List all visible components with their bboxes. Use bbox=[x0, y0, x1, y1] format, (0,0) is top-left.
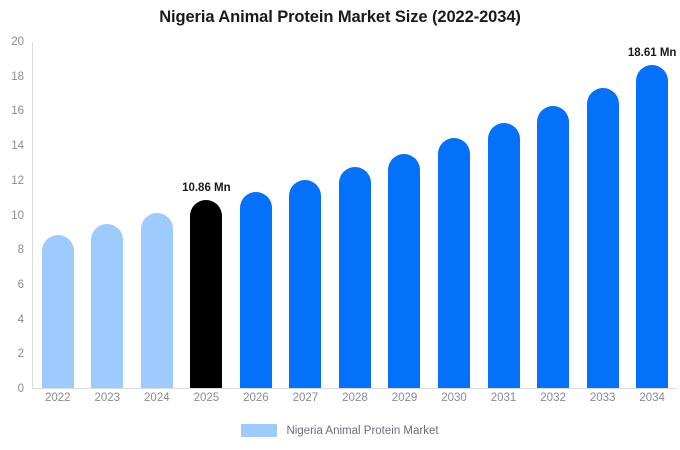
legend-label-nigeria-animal-protein-market: Nigeria Animal Protein Market bbox=[286, 425, 438, 437]
y-axis-tick-label: 16 bbox=[11, 105, 24, 117]
bar-group bbox=[578, 42, 628, 388]
bar-group bbox=[33, 42, 83, 388]
bar-group bbox=[281, 42, 331, 388]
legend-swatch-nigeria-animal-protein-market bbox=[241, 424, 277, 437]
y-axis-tick-label: 2 bbox=[18, 348, 24, 360]
bar-group bbox=[83, 42, 133, 388]
bar-group bbox=[429, 42, 479, 388]
bar-2024[interactable] bbox=[141, 213, 173, 388]
bar-group: 10.86 Mn bbox=[182, 42, 232, 388]
bar-value-label-2034: 18.61 Mn bbox=[628, 47, 677, 59]
x-axis-tick-label-2024: 2024 bbox=[132, 392, 182, 404]
x-axis-tick-label-2027: 2027 bbox=[281, 392, 331, 404]
x-axis-tick-label-2026: 2026 bbox=[231, 392, 281, 404]
bar-value-label-2025: 10.86 Mn bbox=[182, 182, 231, 194]
y-axis-tick-label: 0 bbox=[18, 383, 24, 395]
x-axis-tick-label-2033: 2033 bbox=[578, 392, 628, 404]
x-axis-tick-label-2030: 2030 bbox=[429, 392, 479, 404]
x-axis-tick-label-2022: 2022 bbox=[33, 392, 83, 404]
y-axis-tick-label: 18 bbox=[11, 71, 24, 83]
y-axis-tick-label: 20 bbox=[11, 36, 24, 48]
chart-title: Nigeria Animal Protein Market Size (2022… bbox=[0, 8, 680, 27]
bar-group bbox=[330, 42, 380, 388]
bar-group: 18.61 Mn bbox=[627, 42, 677, 388]
y-axis-tick-label: 6 bbox=[18, 279, 24, 291]
bar-2022[interactable] bbox=[42, 235, 74, 388]
x-axis-tick-label-2029: 2029 bbox=[380, 392, 430, 404]
x-axis-tick-label-2031: 2031 bbox=[479, 392, 529, 404]
bar-2032[interactable] bbox=[537, 106, 569, 388]
bar-group bbox=[380, 42, 430, 388]
bar-2025[interactable] bbox=[190, 200, 222, 388]
bar-2029[interactable] bbox=[388, 154, 420, 388]
bar-2026[interactable] bbox=[240, 192, 272, 388]
bar-2031[interactable] bbox=[488, 123, 520, 388]
bars-layer: 10.86 Mn18.61 Mn bbox=[33, 42, 677, 388]
y-axis-tick-label: 12 bbox=[11, 175, 24, 187]
chart-legend: Nigeria Animal Protein Market bbox=[0, 424, 680, 437]
x-axis-tick-label-2028: 2028 bbox=[330, 392, 380, 404]
x-axis-tick-label-2023: 2023 bbox=[83, 392, 133, 404]
bar-2034[interactable] bbox=[636, 65, 668, 388]
bar-group bbox=[528, 42, 578, 388]
bar-group bbox=[479, 42, 529, 388]
y-axis-tick-label: 8 bbox=[18, 244, 24, 256]
x-axis-tick-label-2032: 2032 bbox=[528, 392, 578, 404]
bar-group bbox=[132, 42, 182, 388]
x-axis-labels: 2022202320242025202620272028202920302031… bbox=[33, 392, 677, 404]
plot-area: 02468101214161820 10.86 Mn18.61 Mn bbox=[32, 42, 677, 389]
bar-2033[interactable] bbox=[587, 88, 619, 388]
bar-2028[interactable] bbox=[339, 167, 371, 388]
x-axis-tick-label-2025: 2025 bbox=[182, 392, 232, 404]
x-axis-line bbox=[32, 388, 677, 389]
bar-2023[interactable] bbox=[91, 224, 123, 388]
y-axis-tick-label: 10 bbox=[11, 210, 24, 222]
bar-2027[interactable] bbox=[289, 180, 321, 388]
y-axis-tick-label: 14 bbox=[11, 140, 24, 152]
bar-2030[interactable] bbox=[438, 138, 470, 388]
x-axis-tick-label-2034: 2034 bbox=[627, 392, 677, 404]
y-axis-tick-label: 4 bbox=[18, 314, 24, 326]
bar-chart: Nigeria Animal Protein Market Size (2022… bbox=[0, 0, 680, 450]
bar-group bbox=[231, 42, 281, 388]
